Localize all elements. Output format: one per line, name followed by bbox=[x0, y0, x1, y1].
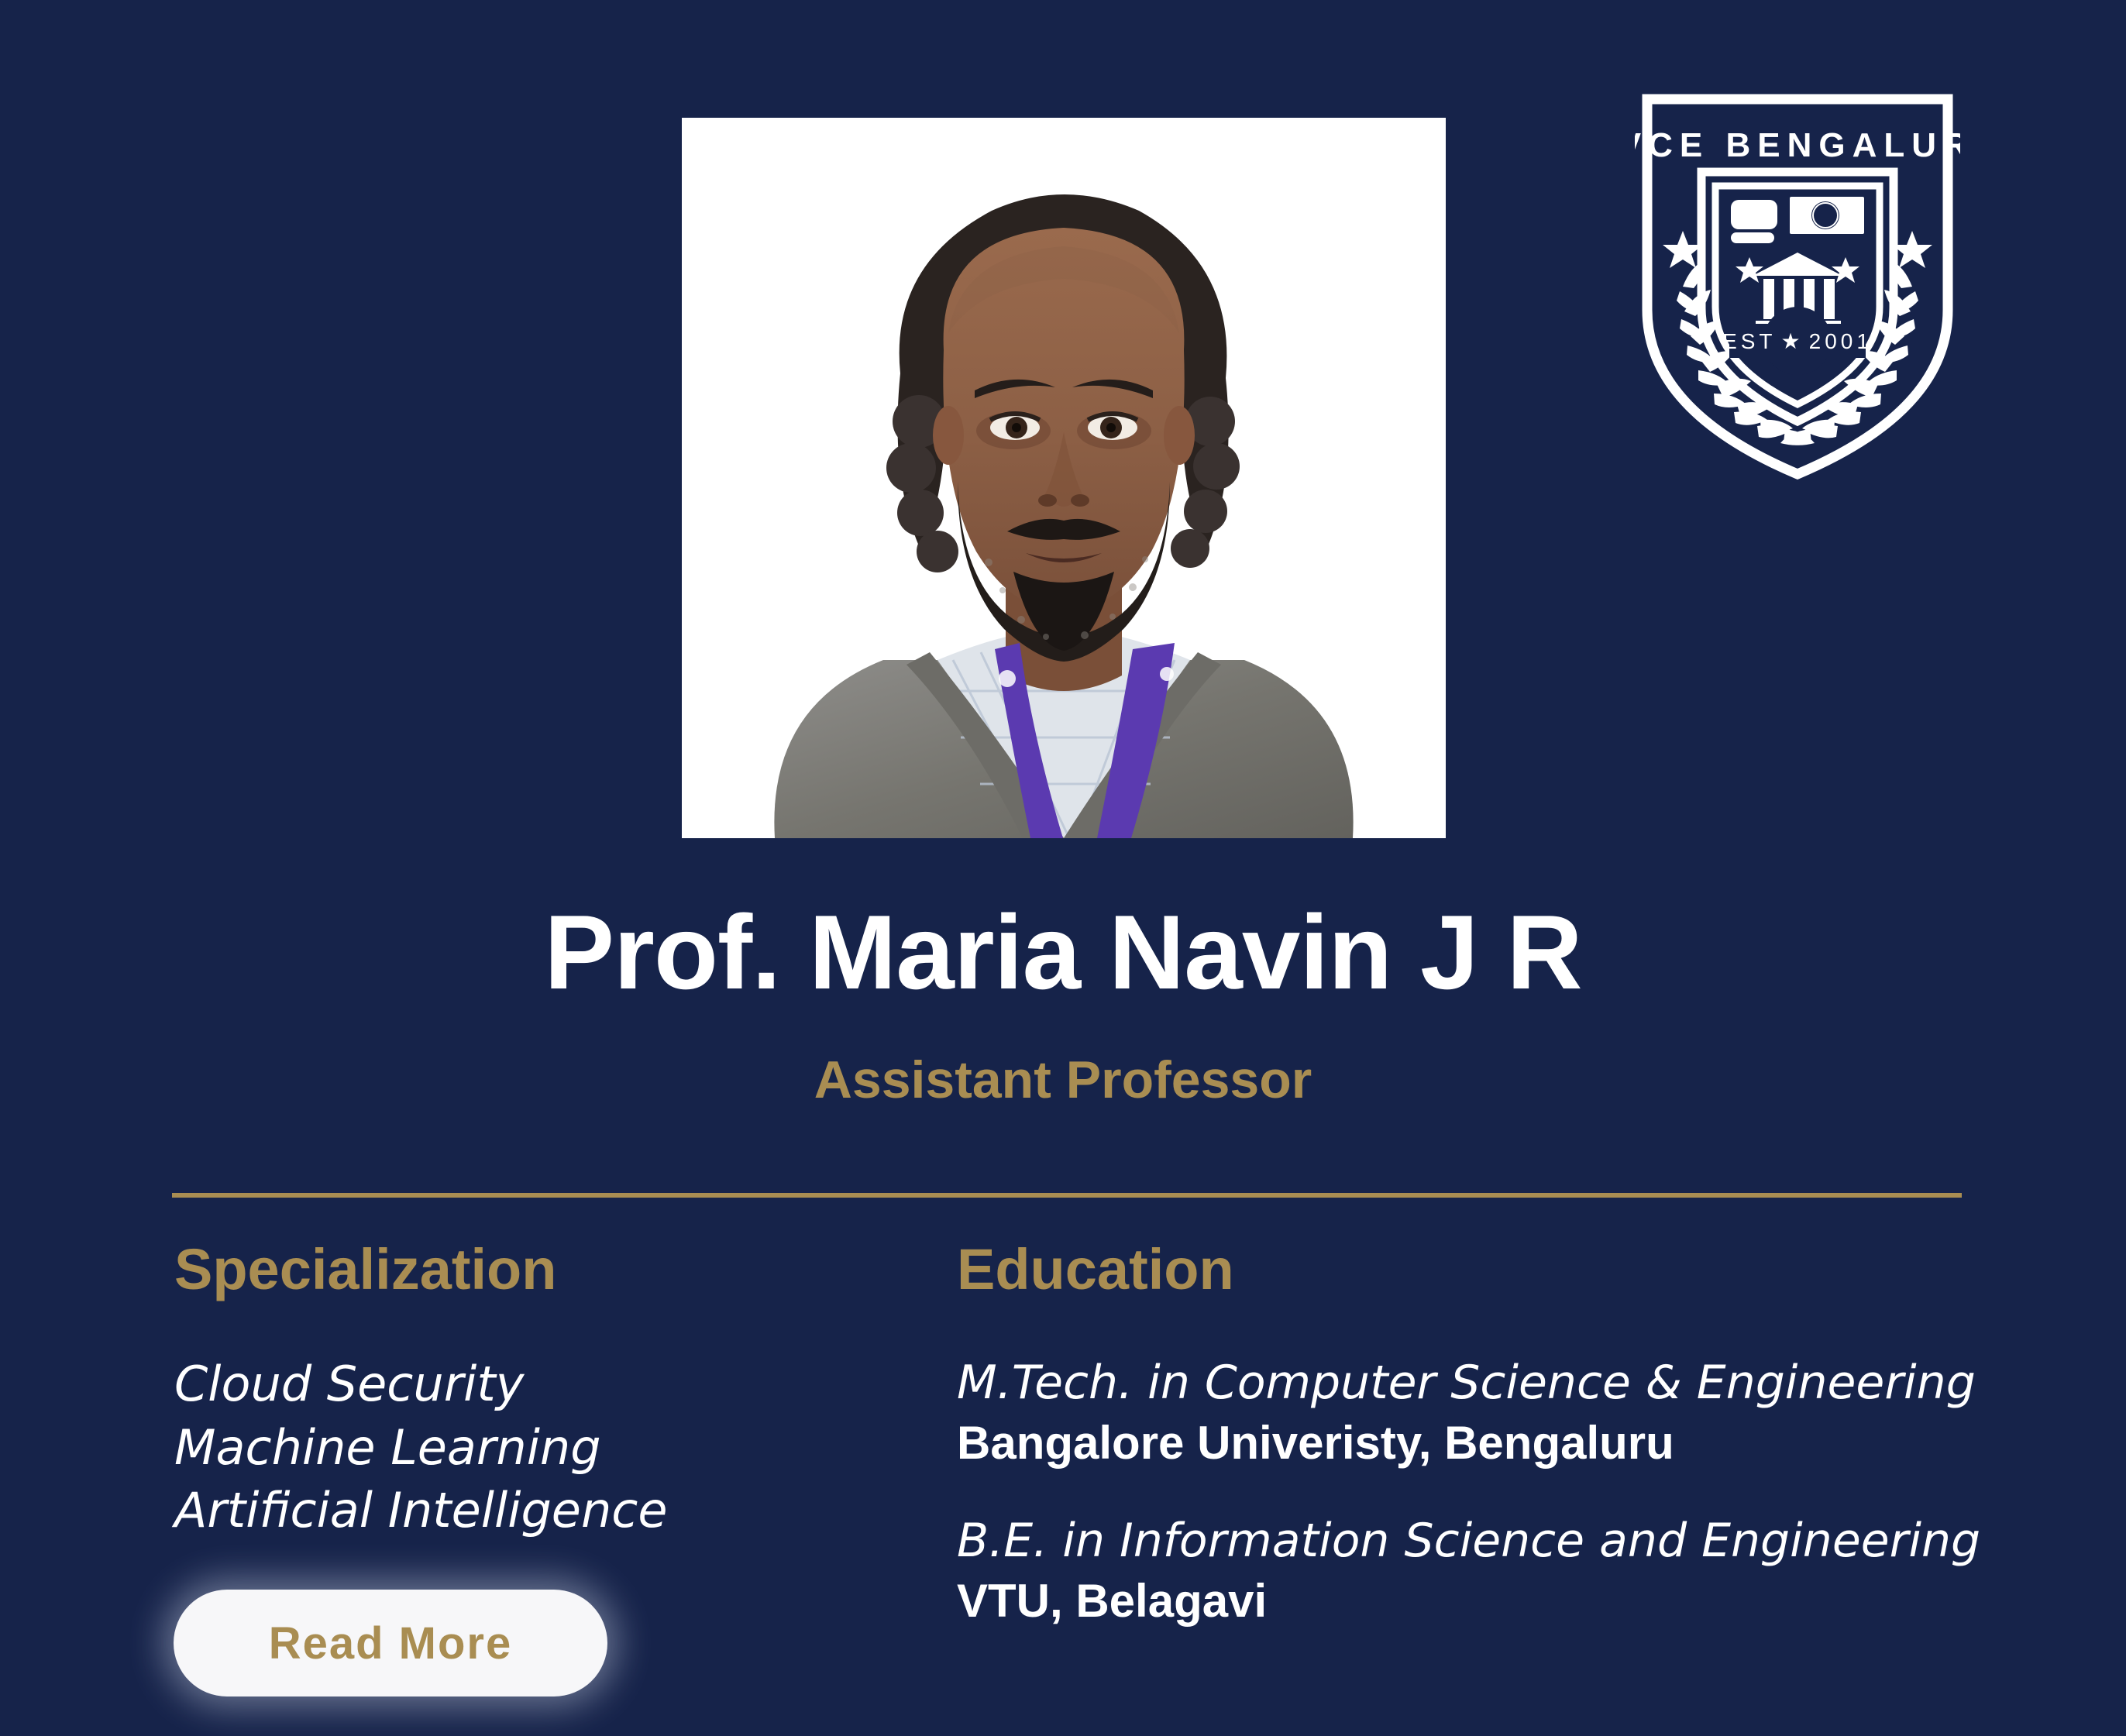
profile-photo bbox=[682, 118, 1446, 838]
book-icon bbox=[1731, 200, 1777, 243]
education-section: Education M.Tech. in Computer Science & … bbox=[957, 1239, 2042, 1669]
specialization-item: Cloud Security bbox=[174, 1353, 895, 1416]
education-entry: B.E. in Information Science and Engineer… bbox=[957, 1511, 2042, 1631]
specialization-item: Machine Learning bbox=[174, 1416, 895, 1480]
read-more-button[interactable]: Read More bbox=[174, 1590, 607, 1696]
education-heading: Education bbox=[957, 1239, 2042, 1300]
education-entry: M.Tech. in Computer Science & Engineerin… bbox=[957, 1353, 2042, 1473]
education-degree: M.Tech. in Computer Science & Engineerin… bbox=[957, 1353, 2042, 1413]
crest-top-text: SVCE BENGALURU bbox=[1635, 126, 1960, 164]
specialization-heading: Specialization bbox=[174, 1239, 895, 1300]
svce-bengaluru-logo: SVCE BENGALURU bbox=[1635, 85, 1960, 488]
professor-designation: Assistant Professor bbox=[0, 1050, 2126, 1110]
professor-name: Prof. Maria Navin J R bbox=[0, 897, 2126, 1008]
specialization-item: Artificial Intelligence bbox=[174, 1479, 895, 1542]
education-institute: Bangalore Univeristy, Bengaluru bbox=[957, 1413, 2042, 1473]
gear-globe-circuit-icon bbox=[1790, 197, 1864, 234]
education-institute: VTU, Belagavi bbox=[957, 1571, 2042, 1631]
education-degree: B.E. in Information Science and Engineer… bbox=[957, 1511, 2042, 1571]
faculty-profile-card: SVCE BENGALURU bbox=[0, 0, 2126, 1736]
gold-divider bbox=[172, 1193, 1962, 1198]
specialization-section: Specialization Cloud Security Machine Le… bbox=[174, 1239, 895, 1542]
crest-est-text: EST★2001 bbox=[1722, 329, 1873, 353]
